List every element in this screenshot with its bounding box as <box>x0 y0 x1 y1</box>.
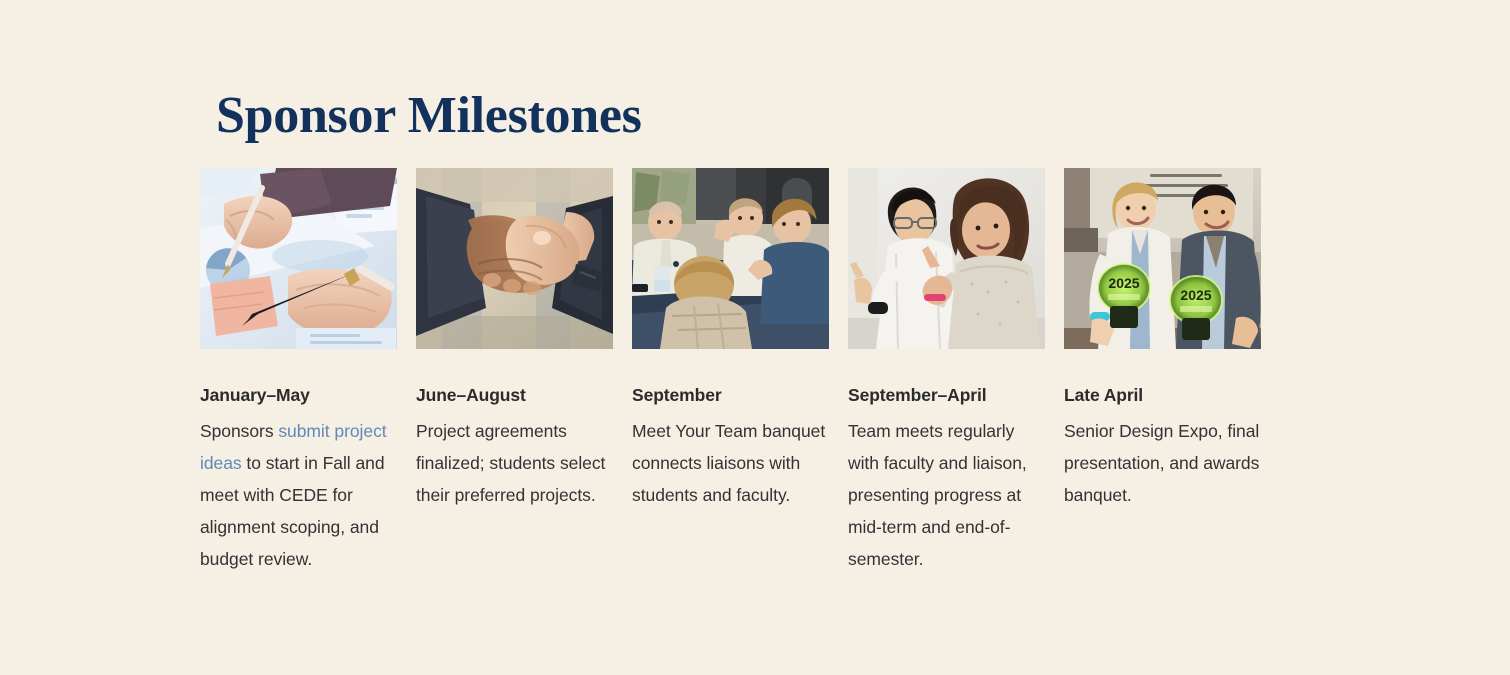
milestone-body: Team meets regularly with faculty and li… <box>848 415 1045 575</box>
milestone-card: June–August Project agreements finalized… <box>416 168 613 575</box>
milestone-body-prefix: Team meets regularly with faculty and li… <box>848 421 1027 569</box>
milestone-body: Project agreements finalized; students s… <box>416 415 613 511</box>
svg-text:2025: 2025 <box>1108 275 1139 291</box>
milestone-body-prefix: Meet Your Team banquet connects liaisons… <box>632 421 825 505</box>
milestone-heading: June–August <box>416 384 613 406</box>
milestone-card: 2025 2025 Late April Senior Design Expo,… <box>1064 168 1261 575</box>
milestone-body: Sponsors submit project ideas to start i… <box>200 415 397 575</box>
milestone-heading: September–April <box>848 384 1045 406</box>
svg-text:2025: 2025 <box>1180 287 1211 303</box>
milestone-heading: January–May <box>200 384 397 406</box>
students-presenting-photo <box>848 168 1045 349</box>
page-title: Sponsor Milestones <box>216 86 642 146</box>
milestone-body-prefix: Sponsors <box>200 421 278 441</box>
milestone-card: September–April Team meets regularly wit… <box>848 168 1045 575</box>
milestone-body: Meet Your Team banquet connects liaisons… <box>632 415 829 511</box>
milestone-heading: September <box>632 384 829 406</box>
sponsor-milestones-section: Sponsor Milestones <box>0 0 1510 675</box>
milestone-card: September Meet Your Team banquet connect… <box>632 168 829 575</box>
milestone-card: January–May Sponsors submit project idea… <box>200 168 397 575</box>
team-banquet-photo <box>632 168 829 349</box>
milestone-heading: Late April <box>1064 384 1261 406</box>
handshake-photo <box>416 168 613 349</box>
milestone-list: January–May Sponsors submit project idea… <box>200 168 1262 575</box>
milestone-body-prefix: Project agreements finalized; students s… <box>416 421 605 505</box>
milestone-body-prefix: Senior Design Expo, final presentation, … <box>1064 421 1259 505</box>
milestone-body: Senior Design Expo, final presentation, … <box>1064 415 1261 511</box>
awards-banquet-photo: 2025 2025 <box>1064 168 1261 349</box>
hands-reviewing-documents-photo <box>200 168 397 349</box>
